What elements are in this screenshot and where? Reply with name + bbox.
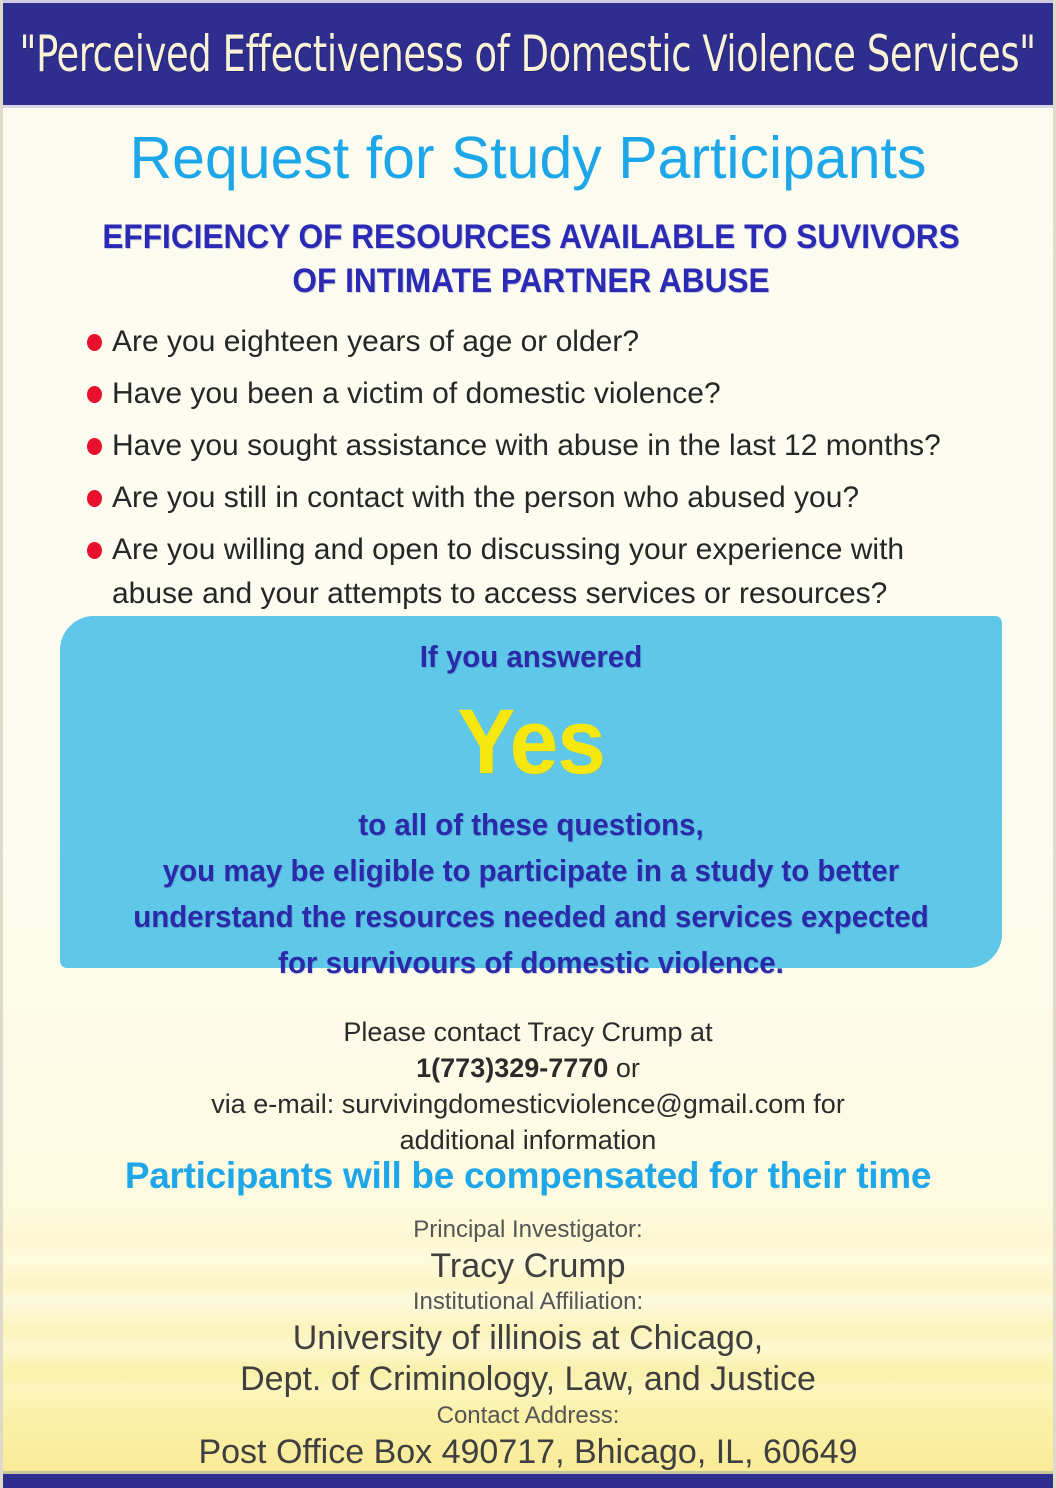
study-subtitle: EFFICIENCY OF RESOURCES AVAILABLE TO SUV… [86, 216, 975, 303]
contact-email-line[interactable]: via e-mail: survivingdomesticviolence@gm… [3, 1087, 1053, 1123]
eligibility-question-list: Are you eighteen years of age or older? … [87, 320, 1007, 625]
bullet-dot-icon [87, 386, 102, 403]
callout-line-3: understand the resources needed and serv… [84, 894, 979, 940]
list-item-label: Have you sought assistance with abuse in… [112, 424, 941, 468]
list-item: Are you still in contact with the person… [87, 476, 1007, 520]
banner: "Perceived Effectiveness of Domestic Vio… [3, 0, 1053, 108]
list-item-label-line-2: abuse and your attempts to access servic… [112, 572, 904, 616]
bullet-dot-icon [87, 490, 102, 507]
bullet-dot-icon [87, 438, 102, 455]
list-item-label: Are you willing and open to discussing y… [112, 528, 904, 616]
contact-block: Please contact Tracy Crump at 1(773)329-… [3, 1015, 1053, 1159]
flyer-poster: "Perceived Effectiveness of Domestic Vio… [0, 0, 1056, 1488]
credits-block: Principal Investigator: Tracy Crump Inst… [3, 1215, 1053, 1473]
affiliation-label: Institutional Affiliation: [3, 1287, 1053, 1318]
list-item-label-line-1: Are you willing and open to discussing y… [112, 533, 904, 566]
callout-line-2: you may be eligible to participate in a … [84, 848, 979, 894]
contact-line-4: additional information [3, 1123, 1053, 1159]
page-title: Request for Study Participants [3, 128, 1053, 190]
banner-title: "Perceived Effectiveness of Domestic Vio… [20, 29, 1036, 79]
contact-line-1: Please contact Tracy Crump at [3, 1015, 1053, 1051]
callout-yes-word: Yes [84, 688, 979, 797]
list-item-label: Are you still in contact with the person… [112, 476, 859, 520]
list-item: Have you sought assistance with abuse in… [87, 424, 1007, 468]
principal-investigator-name: Tracy Crump [3, 1246, 1053, 1287]
affiliation-line-1: University of illinois at Chicago, [3, 1318, 1053, 1359]
study-subtitle-line-1: EFFICIENCY OF RESOURCES AVAILABLE TO SUV… [86, 216, 975, 260]
list-item: Have you been a victim of domestic viole… [87, 372, 1007, 416]
principal-investigator-label: Principal Investigator: [3, 1215, 1053, 1246]
list-item-label: Are you eighteen years of age or older? [112, 320, 639, 364]
bullet-dot-icon [87, 334, 102, 351]
eligibility-callout-box: If you answered Yes to all of these ques… [60, 616, 1002, 968]
list-item: Are you eighteen years of age or older? [87, 320, 1007, 364]
callout-line-4: for survivours of domestic violence. [84, 940, 979, 986]
study-subtitle-line-2: OF INTIMATE PARTNER ABUSE [86, 260, 975, 304]
bullet-dot-icon [87, 542, 102, 559]
contact-phone-row: 1(773)329-7770 or [3, 1051, 1053, 1087]
contact-phone-number[interactable]: 1(773)329-7770 [416, 1053, 608, 1083]
list-item: Are you willing and open to discussing y… [87, 528, 1007, 616]
bottom-accent-bar [3, 1471, 1053, 1488]
compensation-notice: Participants will be compensated for the… [3, 1155, 1053, 1197]
contact-phone-suffix: or [608, 1053, 640, 1083]
contact-address-value: Post Office Box 490717, Bhicago, IL, 606… [3, 1432, 1053, 1473]
callout-line-1: to all of these questions, [84, 802, 979, 848]
contact-address-label: Contact Address: [3, 1401, 1053, 1432]
callout-intro: If you answered [84, 634, 979, 680]
affiliation-line-2: Dept. of Criminology, Law, and Justice [3, 1359, 1053, 1400]
list-item-label: Have you been a victim of domestic viole… [112, 372, 721, 416]
